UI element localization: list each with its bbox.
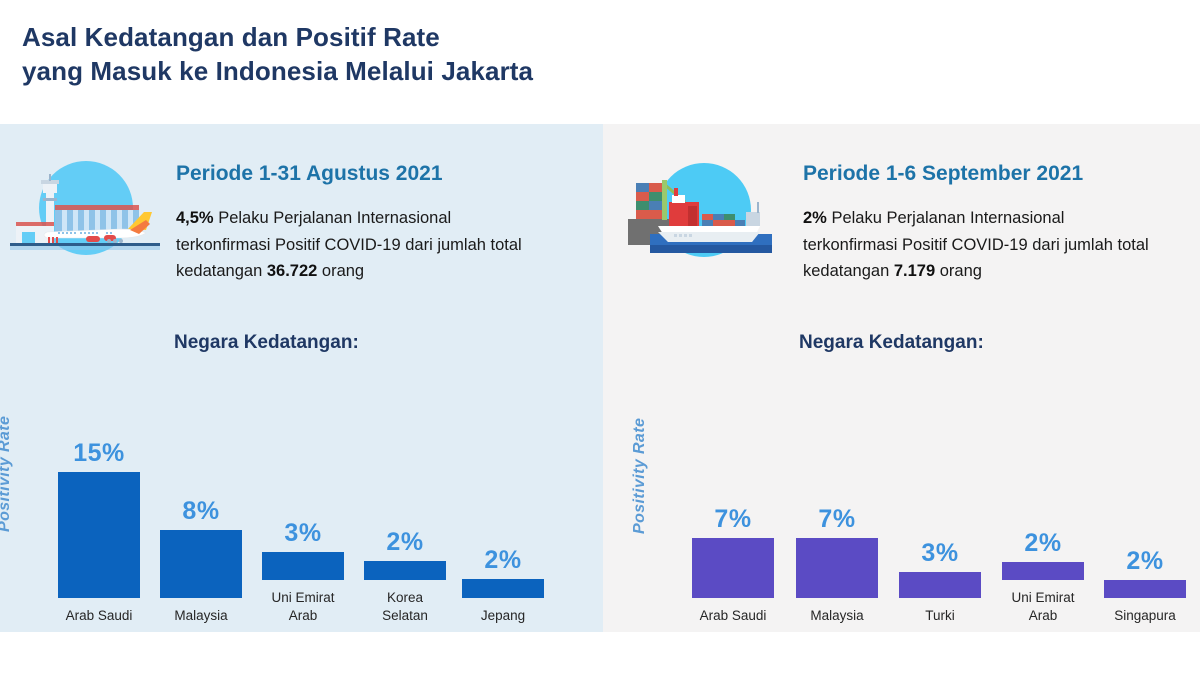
panels-container: Periode 1-31 Agustus 2021 4,5% Pelaku Pe…: [0, 124, 1200, 632]
bar-label: Korea Selatan: [355, 589, 455, 624]
bar-group: 2% Korea Selatan: [355, 395, 455, 624]
bar-rect: [160, 530, 242, 598]
bar-group: 7% Arab Saudi: [683, 413, 783, 624]
bar-label: Jepang: [453, 607, 553, 624]
port-cargo-ship-icon: [628, 150, 778, 270]
bar-label: Uni Emirat Arab: [993, 589, 1093, 624]
bar-rect: [899, 572, 981, 598]
bar-value: 2%: [386, 530, 423, 555]
bar-value: 15%: [73, 441, 125, 466]
bar-value: 2%: [1024, 531, 1061, 556]
positivity-rate-value-august: 4,5%: [176, 209, 214, 227]
bar-rect: [1002, 562, 1084, 580]
positivity-rate-value-september: 2%: [803, 209, 827, 227]
bar-value: 8%: [182, 499, 219, 524]
total-arrivals-september: 7.179: [894, 262, 935, 280]
bar-rect: [58, 472, 140, 598]
total-arrivals-august: 36.722: [267, 262, 317, 280]
bars-september: 7% Arab Saudi 7% Malaysia 3%: [603, 374, 1200, 624]
bars-august: 15% Arab Saudi 8% Malaysia 3%: [0, 374, 603, 624]
airport-airplane-icon: [10, 150, 160, 270]
bar-group: 3% Turki: [890, 413, 990, 624]
bar-label: Malaysia: [151, 607, 251, 624]
bar-rect: [796, 538, 878, 598]
period-summary-august: 4,5% Pelaku Perjalanan Internasional ter…: [176, 205, 536, 285]
chart-heading-august: Negara Kedatangan:: [174, 332, 359, 354]
period-heading-september: Periode 1-6 September 2021: [803, 162, 1083, 186]
bar-group: 15% Arab Saudi: [49, 413, 149, 624]
summary-text-2-august: orang: [317, 262, 364, 280]
bar-label: Malaysia: [787, 607, 887, 624]
bar-label: Arab Saudi: [49, 607, 149, 624]
page-title: Asal Kedatangan dan Positif Rate yang Ma…: [22, 20, 922, 89]
bar-group: 2% Jepang: [453, 413, 553, 624]
bar-group: 2% Singapura: [1095, 413, 1195, 624]
bar-value: 2%: [484, 548, 521, 573]
bar-value: 3%: [921, 541, 958, 566]
bar-group: 8% Malaysia: [151, 413, 251, 624]
bar-label: Turki: [890, 607, 990, 624]
period-summary-september: 2% Pelaku Perjalanan Internasional terko…: [803, 205, 1163, 285]
bar-group: 7% Malaysia: [787, 413, 887, 624]
bar-value: 7%: [714, 507, 751, 532]
bar-rect: [462, 579, 544, 598]
page-title-line-1: Asal Kedatangan dan Positif Rate: [22, 20, 922, 54]
bar-rect: [692, 538, 774, 598]
bar-value: 3%: [284, 521, 321, 546]
panel-august: Periode 1-31 Agustus 2021 4,5% Pelaku Pe…: [0, 124, 603, 632]
bar-value: 2%: [1126, 549, 1163, 574]
bar-group: 3% Uni Emirat Arab: [253, 395, 353, 624]
summary-text-2-september: orang: [935, 262, 982, 280]
bar-rect: [262, 552, 344, 580]
bar-label: Singapura: [1095, 607, 1195, 624]
page-title-line-2: yang Masuk ke Indonesia Melalui Jakarta: [22, 54, 922, 88]
chart-september: Positivity Rate 7% Arab Saudi 7% Malaysi…: [603, 374, 1200, 624]
bar-value: 7%: [818, 507, 855, 532]
chart-heading-september: Negara Kedatangan:: [799, 332, 984, 354]
chart-august: Positivity Rate 15% Arab Saudi 8% Malays…: [0, 374, 603, 624]
bar-label: Uni Emirat Arab: [253, 589, 353, 624]
panel-september: Periode 1-6 September 2021 2% Pelaku Per…: [603, 124, 1200, 632]
bar-group: 2% Uni Emirat Arab: [993, 395, 1093, 624]
bar-rect: [364, 561, 446, 580]
bar-label: Arab Saudi: [683, 607, 783, 624]
bar-rect: [1104, 580, 1186, 598]
period-heading-august: Periode 1-31 Agustus 2021: [176, 162, 443, 186]
